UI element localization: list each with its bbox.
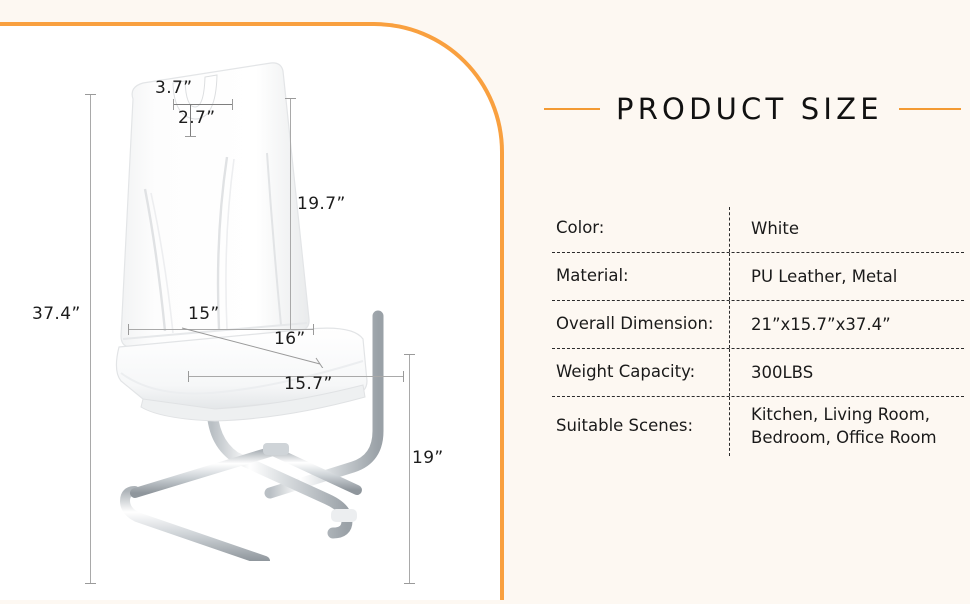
- spec-value: 21”x15.7”x37.4”: [729, 307, 964, 342]
- dim-line-handle-width: [173, 104, 233, 105]
- dim-tick-overall-top: [85, 94, 96, 95]
- spec-key: Material:: [552, 259, 729, 293]
- page-title-row: PRODUCT SIZE: [544, 88, 964, 130]
- dim-line-overall-height: [90, 94, 91, 584]
- spec-value: PU Leather, Metal: [729, 259, 964, 294]
- spec-column-divider: [729, 349, 730, 396]
- dim-tick-handle-width-left: [173, 99, 174, 110]
- dim-line-backrest-height: [290, 98, 291, 330]
- dim-tick-handle-depth-bottom: [185, 136, 196, 137]
- dim-tick-overall-bottom: [85, 583, 96, 584]
- dim-tick-backrest-top: [285, 98, 296, 99]
- dim-label-overall-height: 37.4”: [32, 304, 81, 324]
- dim-tick-handle-width-right: [232, 99, 233, 110]
- spec-column-divider: [729, 301, 730, 348]
- page-title: PRODUCT SIZE: [616, 92, 883, 126]
- spec-key: Overall Dimension:: [552, 307, 729, 341]
- table-row: Weight Capacity: 300LBS: [552, 349, 964, 397]
- dim-label-seat-width: 15”: [188, 304, 220, 324]
- spec-key: Suitable Scenes:: [552, 409, 729, 443]
- dim-label-seat-diagonal: 16”: [274, 329, 306, 349]
- spec-column-divider: [729, 253, 730, 300]
- dim-tick-seat-depth-right: [403, 371, 404, 382]
- spec-key: Weight Capacity:: [552, 355, 729, 389]
- spec-key: Color:: [552, 211, 729, 245]
- table-row: Color: White: [552, 205, 964, 253]
- table-row: Overall Dimension: 21”x15.7”x37.4”: [552, 301, 964, 349]
- spec-value: 300LBS: [729, 355, 964, 390]
- dim-tick-seat-depth-left: [188, 371, 189, 382]
- infographic-root: 3.7” 2.7” 19.7” 37.4” 15”: [0, 0, 970, 600]
- dim-label-seat-height: 19”: [412, 448, 444, 468]
- table-row: Material: PU Leather, Metal: [552, 253, 964, 301]
- dim-line-seat-height: [409, 354, 410, 584]
- dim-tick-seat-width-left: [128, 324, 129, 335]
- chair-graphic: [95, 61, 425, 561]
- spec-value: White: [729, 211, 964, 246]
- product-image-panel: 3.7” 2.7” 19.7” 37.4” 15”: [0, 22, 504, 600]
- spec-column-divider: [729, 397, 730, 456]
- spec-value: Kitchen, Living Room, Bedroom, Office Ro…: [729, 397, 964, 456]
- title-rule-right: [899, 108, 961, 110]
- dim-label-handle-width: 3.7”: [155, 78, 192, 98]
- table-row: Suitable Scenes: Kitchen, Living Room, B…: [552, 397, 964, 456]
- dim-label-handle-depth: 2.7”: [178, 108, 215, 128]
- title-rule-left: [544, 108, 600, 110]
- spec-column-divider: [729, 207, 730, 252]
- chair-illustration: 3.7” 2.7” 19.7” 37.4” 15”: [0, 26, 504, 604]
- dim-tick-seat-height-bottom: [404, 583, 415, 584]
- dim-tick-seat-height-top: [404, 354, 415, 355]
- dim-line-seat-diagonal: [180, 326, 330, 368]
- dim-label-backrest-height: 19.7”: [297, 194, 346, 214]
- spec-table: Color: White Material: PU Leather, Metal…: [552, 205, 964, 456]
- dim-label-seat-depth: 15.7”: [284, 374, 333, 394]
- spec-panel: PRODUCT SIZE Color: White Material: PU L…: [504, 0, 970, 600]
